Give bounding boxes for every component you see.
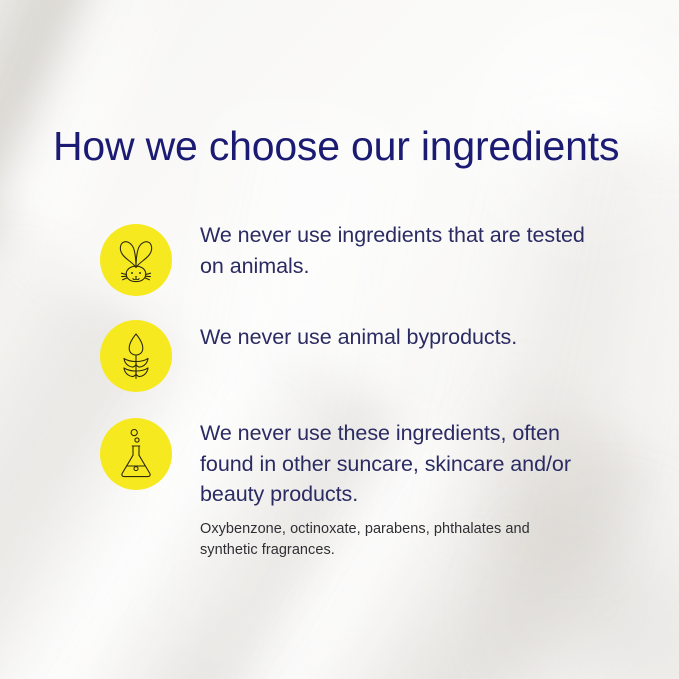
list-item-lead: We never use animal byproducts. <box>200 322 600 353</box>
list-item: We never use ingredients that are tested… <box>0 216 679 296</box>
content-layer: How we choose our ingredients <box>0 0 679 679</box>
list-item-lead: We never use these ingredients, often fo… <box>200 418 600 510</box>
page-title: How we choose our ingredients <box>53 123 619 170</box>
list-item-text: We never use animal byproducts. <box>172 318 679 353</box>
ingredient-principles-panel: How we choose our ingredients <box>0 0 679 679</box>
badge-circle-plant <box>100 320 172 392</box>
plant-sprig-icon <box>115 331 157 381</box>
list-item: We never use these ingredients, often fo… <box>0 414 679 561</box>
bunny-heart-ears-icon <box>113 236 159 284</box>
flask-bubbles-icon <box>115 428 157 480</box>
list-item: We never use animal byproducts. <box>0 318 679 392</box>
list-item-text: We never use ingredients that are tested… <box>172 216 679 281</box>
list-item-fineprint: Oxybenzone, octinoxate, parabens, phthal… <box>200 519 560 561</box>
list-item-lead: We never use ingredients that are tested… <box>200 220 600 281</box>
badge-circle-bunny <box>100 224 172 296</box>
principle-list: We never use ingredients that are tested… <box>0 216 679 561</box>
badge-circle-flask <box>100 418 172 490</box>
list-item-text: We never use these ingredients, often fo… <box>172 414 679 561</box>
